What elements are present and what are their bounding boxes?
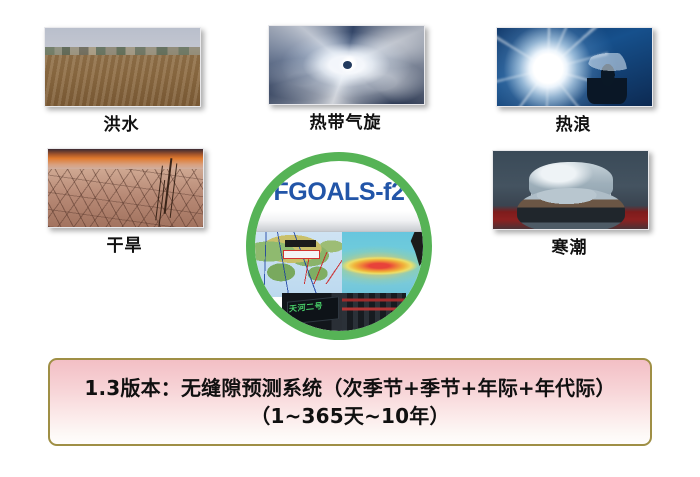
hazard-card-drought[interactable]: 干旱 xyxy=(47,148,202,256)
cold-wave-photo xyxy=(492,150,649,230)
hazard-card-heatwave[interactable]: 热浪 xyxy=(496,27,651,135)
map-light-annotation-box xyxy=(283,250,320,259)
heat-wave-photo xyxy=(496,27,653,107)
supercomputer-tianhe: 天河二号 xyxy=(282,293,406,331)
hazard-label-coldwave: 寒潮 xyxy=(492,233,647,258)
hazard-card-cyclone[interactable]: 热带气旋 xyxy=(268,25,423,133)
version-banner-line-1: 1.3版本：无缝隙预测系统（次季节+季节+年际+年代际） xyxy=(84,374,615,402)
cold-wave-photo-art xyxy=(493,151,648,229)
sst-anomaly-heatmap xyxy=(342,232,423,297)
hazard-label-heatwave: 热浪 xyxy=(496,110,651,135)
tropical-cyclone-photo-art xyxy=(269,26,424,104)
fgoals-f2-logo-circle[interactable]: FGOALS-f2 天河二号 xyxy=(246,152,432,340)
title-shelf-divider xyxy=(255,211,423,232)
fgoals-f2-title: FGOALS-f2 xyxy=(255,178,423,207)
sst-coastline-mask xyxy=(402,228,423,266)
hazard-label-flood: 洪水 xyxy=(44,110,199,135)
server-racks xyxy=(342,293,407,331)
heat-wave-photo-art xyxy=(497,28,652,106)
drought-photo xyxy=(47,148,204,228)
fgoals-circle-inner: FGOALS-f2 天河二号 xyxy=(255,161,423,331)
hazard-card-flood[interactable]: 洪水 xyxy=(44,27,199,135)
version-banner: 1.3版本：无缝隙预测系统（次季节+季节+年际+年代际） （1~365天~10年… xyxy=(48,358,652,446)
flood-photo xyxy=(44,27,201,107)
model-output-collage: 天河二号 xyxy=(255,232,423,331)
map-dark-annotation-box xyxy=(285,240,316,247)
version-banner-line-2: （1~365天~10年） xyxy=(250,402,449,430)
hazard-label-drought: 干旱 xyxy=(47,231,202,256)
slide-canvas: 洪水 热带气旋 热浪 干旱 寒潮 FGOALS-f2 xyxy=(0,0,700,477)
monsoon-circulation-map xyxy=(255,232,342,297)
tropical-cyclone-photo xyxy=(268,25,425,105)
hazard-label-cyclone: 热带气旋 xyxy=(268,108,423,133)
drought-photo-art xyxy=(48,149,203,227)
flood-photo-art xyxy=(45,28,200,106)
hazard-card-coldwave[interactable]: 寒潮 xyxy=(492,150,647,258)
